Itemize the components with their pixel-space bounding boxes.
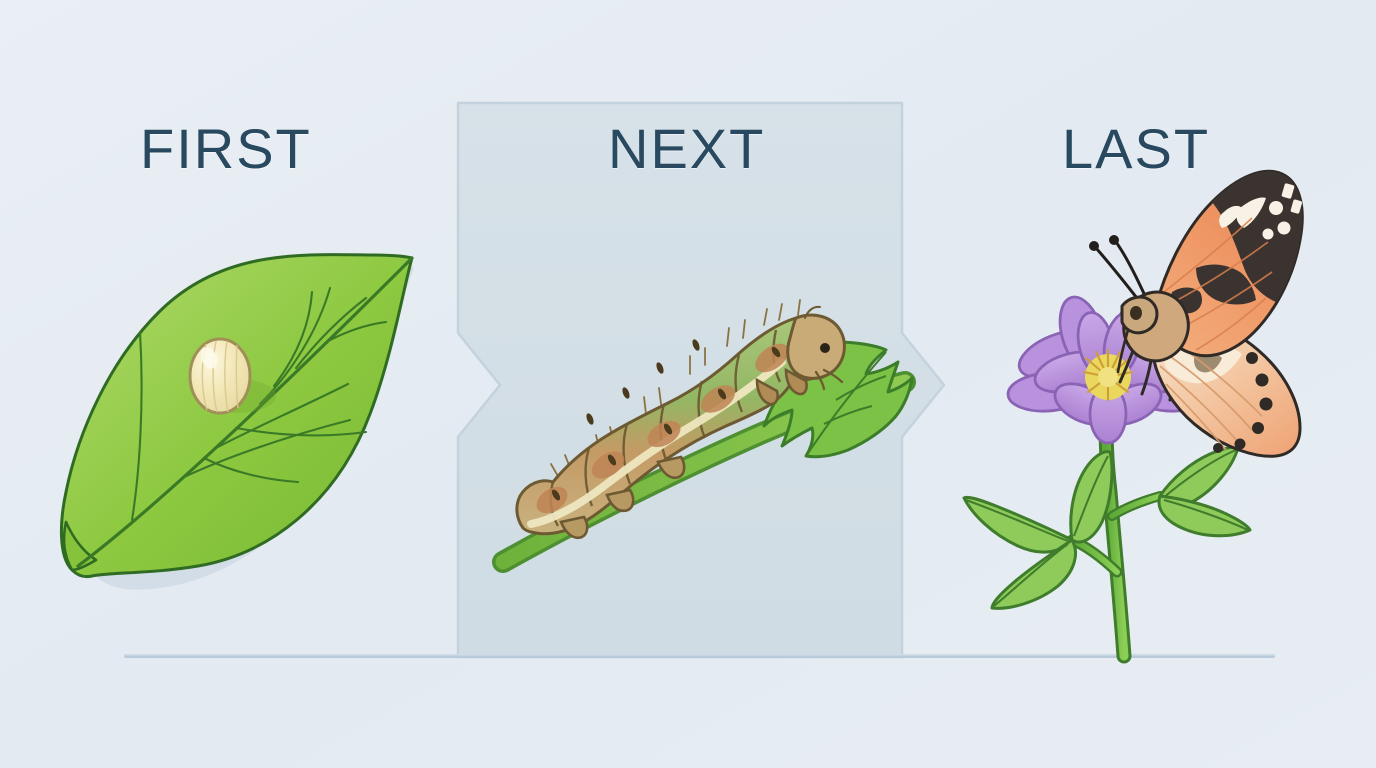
antenna-club-right	[1109, 235, 1119, 245]
stage-label-next: NEXT	[608, 116, 765, 181]
butterfly-eye	[1130, 306, 1142, 320]
diagram-canvas: FIRST NEXT LAST	[0, 0, 1376, 768]
butterfly-antennae	[1096, 242, 1146, 302]
stage-label-first: FIRST	[140, 116, 312, 181]
antenna-club-left	[1089, 241, 1099, 251]
stage-label-last: LAST	[1062, 116, 1210, 181]
